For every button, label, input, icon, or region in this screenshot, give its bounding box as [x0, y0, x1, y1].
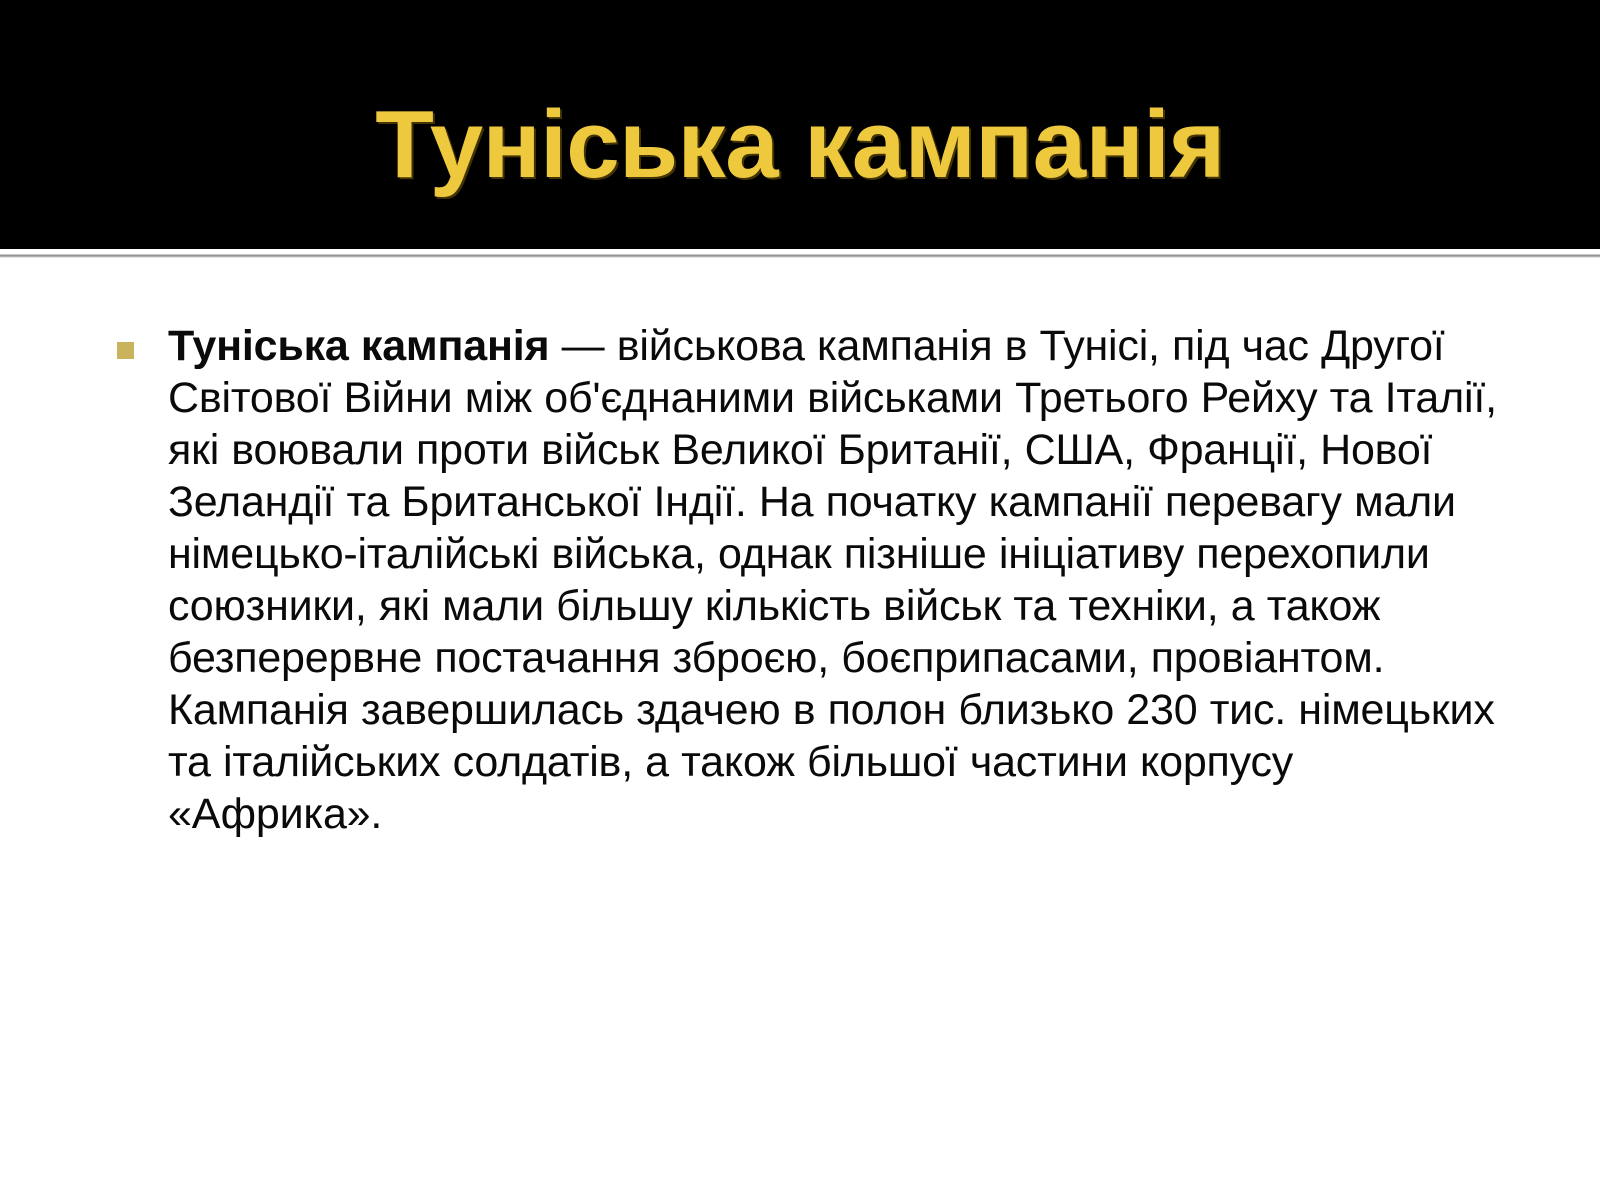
- bullet-paragraph: Туніська кампанія — військова кампанія в…: [168, 320, 1513, 840]
- presentation-slide: Туніська кампанія Туніська кампанія — ві…: [0, 0, 1600, 1200]
- title-band: Туніська кампанія: [0, 0, 1600, 249]
- page-title: Туніська кампанія: [375, 97, 1225, 249]
- bullet-body-text: — військова кампанія в Тунісі, під час Д…: [168, 322, 1497, 838]
- square-bullet-icon: [117, 342, 134, 359]
- slide-body: Туніська кампанія — військова кампанія в…: [0, 258, 1600, 1200]
- list-item: Туніська кампанія — військова кампанія в…: [110, 320, 1510, 840]
- bullet-lead-term: Туніська кампанія: [168, 322, 549, 370]
